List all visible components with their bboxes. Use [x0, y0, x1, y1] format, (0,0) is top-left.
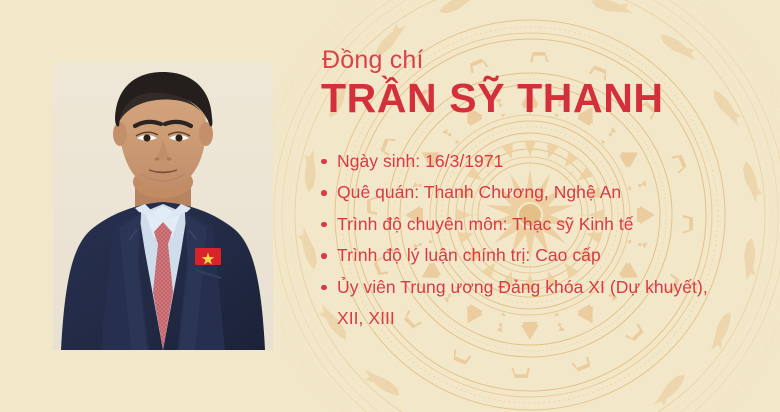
delegate-badge — [195, 248, 221, 265]
profile-text-column: Đồng chí TRẦN SỸ THANH Ngày sinh: 16/3/1… — [320, 46, 770, 335]
eyebrow-label: Đồng chí — [322, 46, 770, 75]
list-item: Trình độ lý luận chính trị: Cao cấp — [320, 240, 770, 272]
list-item: Trình độ chuyên môn: Thạc sỹ Kinh tế — [320, 209, 770, 241]
portrait-illustration — [53, 62, 273, 350]
list-item: Quê quán: Thanh Chương, Nghệ An — [320, 177, 770, 209]
page-title: TRẦN SỸ THANH — [321, 77, 770, 120]
list-item: Ngày sinh: 16/3/1971 — [320, 146, 770, 178]
profile-card: Đồng chí TRẦN SỸ THANH Ngày sinh: 16/3/1… — [0, 0, 780, 412]
portrait-photo — [53, 62, 273, 350]
list-item-continuation: XII, XIII — [320, 303, 770, 335]
list-item: Ủy viên Trung ương Đảng khóa XI (Dự khuy… — [320, 272, 770, 304]
bio-list: Ngày sinh: 16/3/1971 Quê quán: Thanh Chư… — [320, 146, 770, 335]
